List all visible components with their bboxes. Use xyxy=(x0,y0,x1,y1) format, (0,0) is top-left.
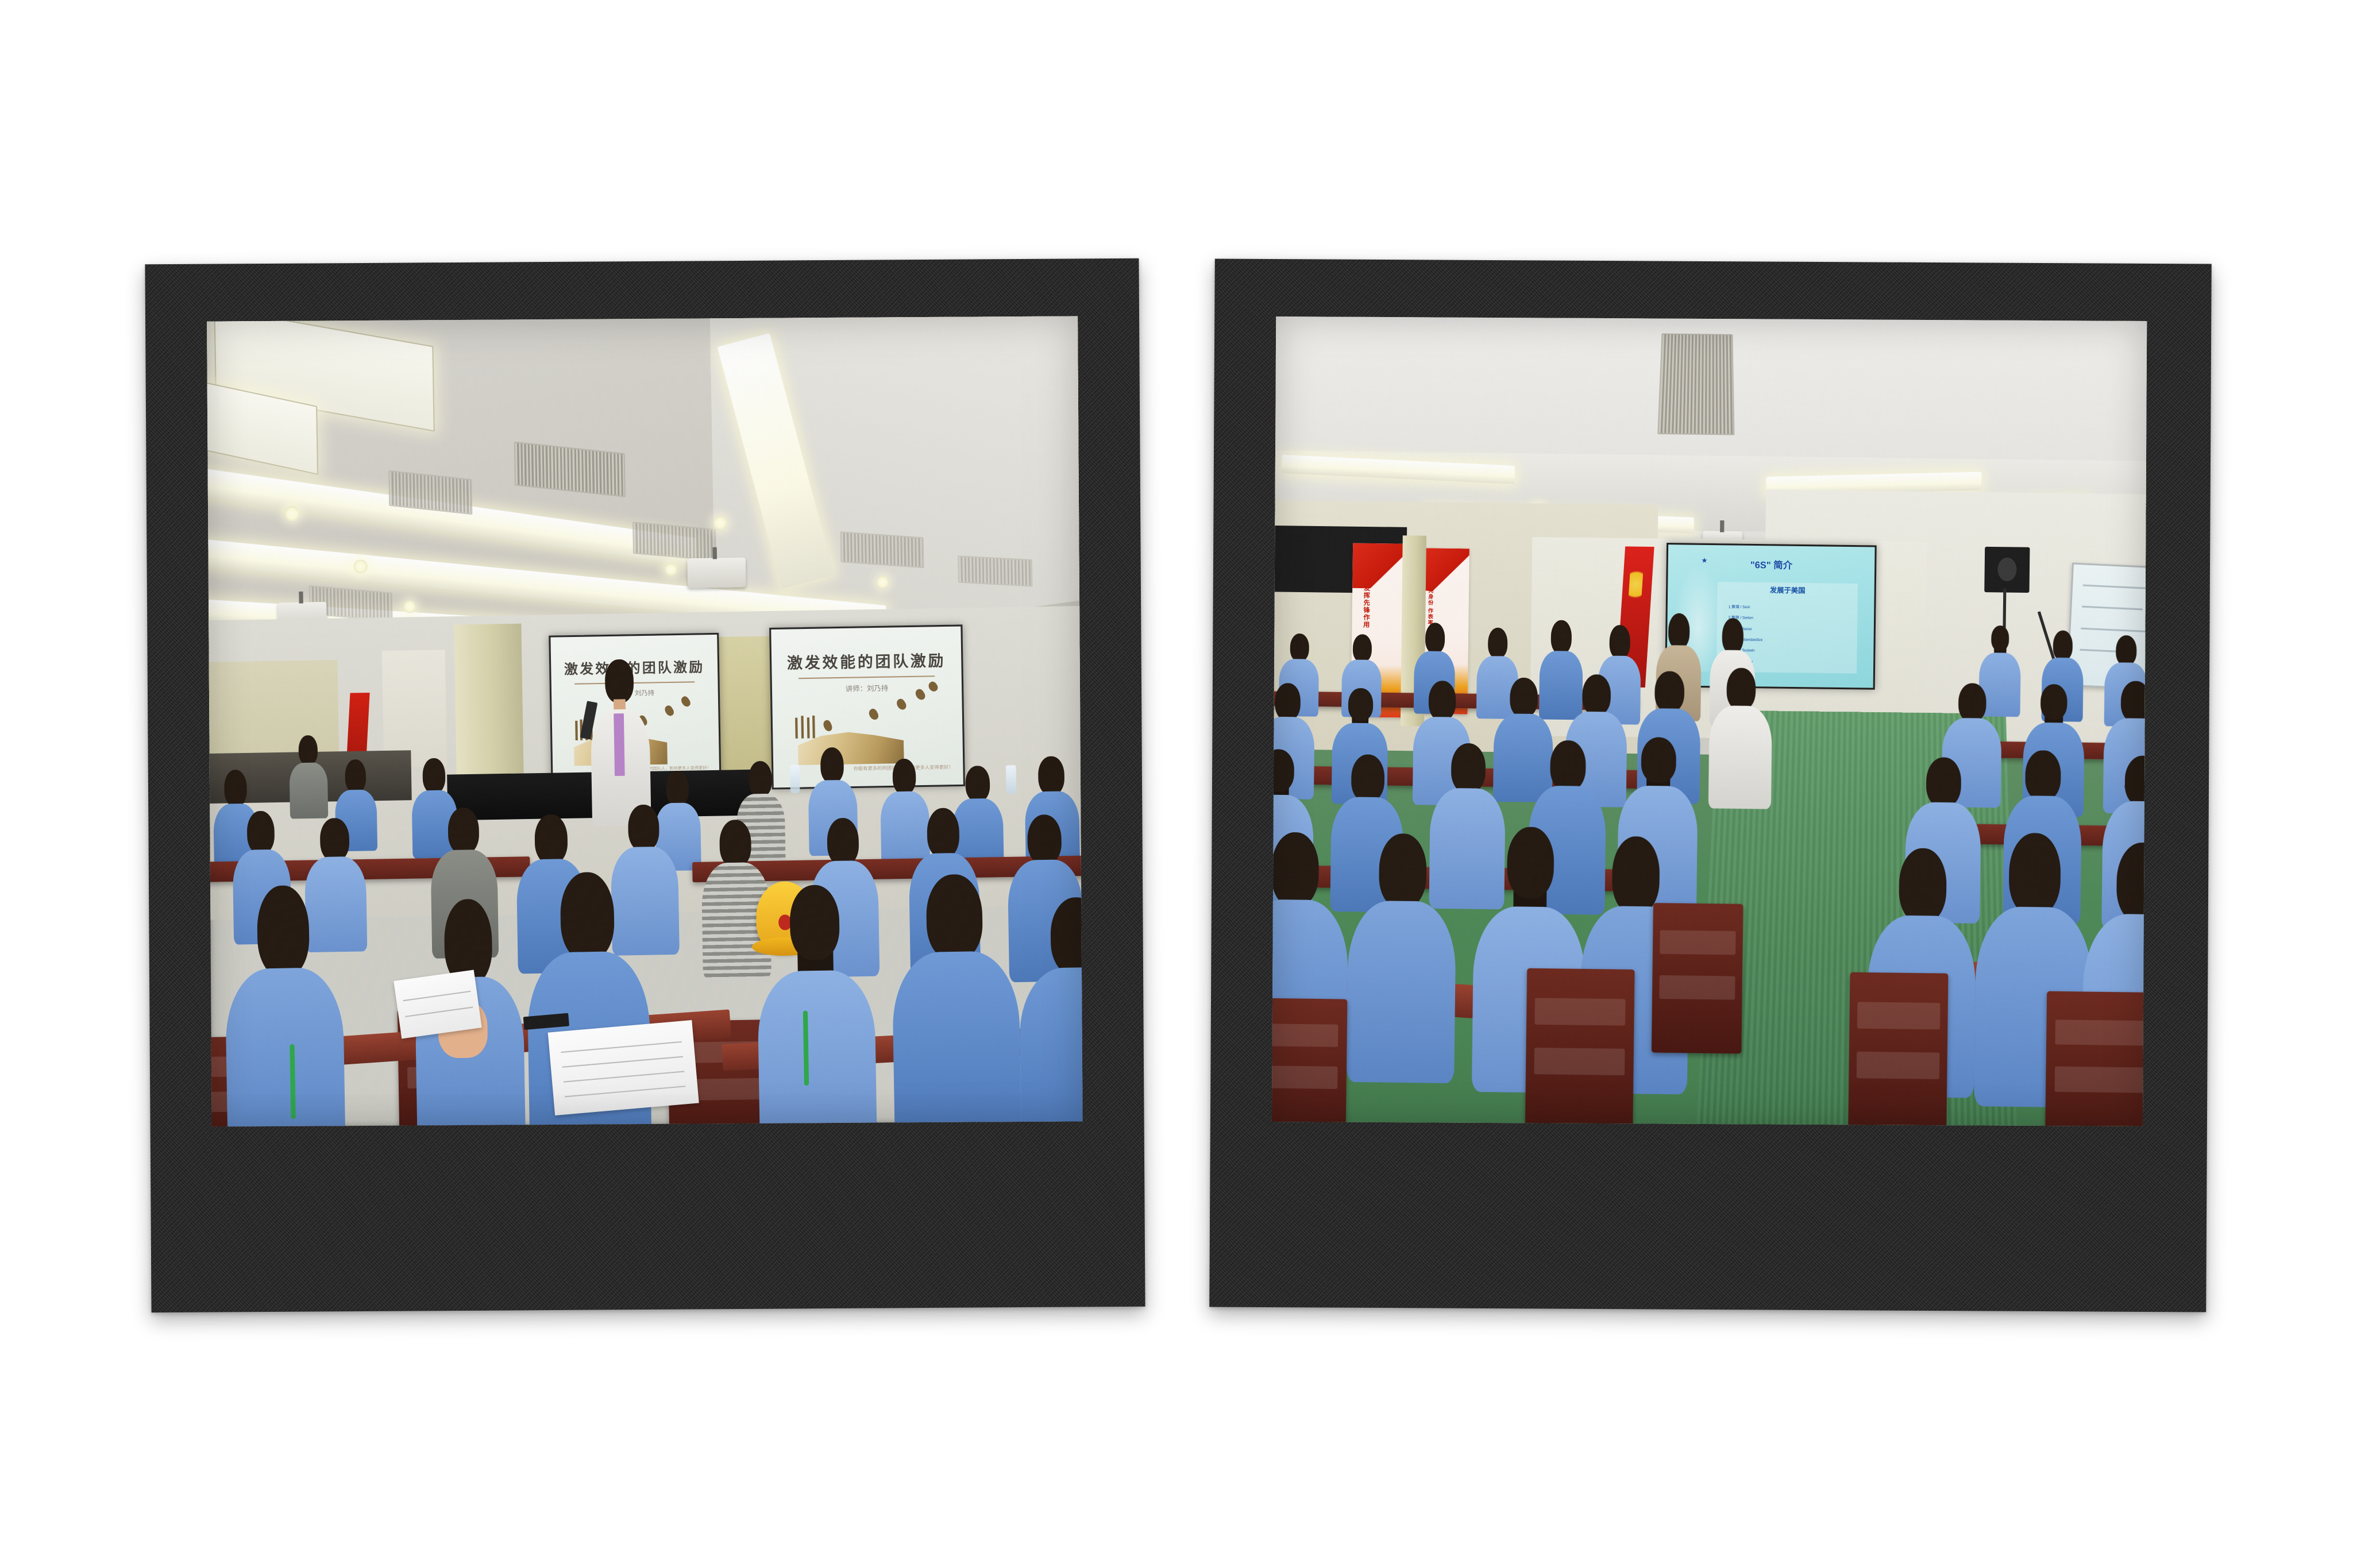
photo-left: 激发效能的团队激励 讲师：刘乃持 你能有更多的同团队人，影响更多人变得更好！ xyxy=(207,316,1083,1126)
audience-member-foreground xyxy=(1017,897,1083,1126)
recessed-downlight-icon xyxy=(404,600,416,613)
polaroid-right[interactable]: 发挥先锋作用 亮身份 作表率 走前列 ★ "6S" 简介 发展于美国 1.整理 … xyxy=(1209,258,2212,1312)
wall-panel xyxy=(382,650,447,767)
air-vent-grille-icon xyxy=(1657,333,1734,435)
audience-member-foreground xyxy=(890,874,1021,1127)
audience-member-foreground xyxy=(1346,833,1457,1083)
slide-runner-figure xyxy=(680,696,692,708)
air-vent-grille-icon xyxy=(840,531,924,568)
presenter-necktie xyxy=(614,713,625,776)
water-bottle-icon xyxy=(790,764,800,793)
slide-runner-figure xyxy=(867,707,880,721)
page-canvas: 激发效能的团队激励 讲师：刘乃持 你能有更多的同团队人，影响更多人变得更好！ xyxy=(0,0,2353,1568)
air-vent-grille-icon xyxy=(958,555,1033,587)
slide-panel-heading: 发展于美国 xyxy=(1717,584,1857,596)
banner-text: 发挥先锋作用 xyxy=(1361,585,1371,628)
chair xyxy=(1272,998,1347,1126)
chair xyxy=(2045,991,2147,1126)
ceiling-projector-icon xyxy=(687,557,746,588)
recessed-downlight-icon xyxy=(877,576,889,588)
audience-member xyxy=(289,735,328,819)
polaroid-left[interactable]: 激发效能的团队激励 讲师：刘乃持 你能有更多的同团队人，影响更多人变得更好！ xyxy=(145,258,1145,1313)
wall-speaker-icon xyxy=(1985,546,2030,592)
recessed-downlight-icon xyxy=(353,559,367,574)
slide-title: 激发效能的团队激励 xyxy=(772,648,961,674)
slide-list-item: 1.整理 / Seiri xyxy=(1729,604,1750,610)
slide-title: "6S" 简介 xyxy=(1668,555,1874,572)
chair xyxy=(1525,968,1634,1126)
chair xyxy=(1848,972,1949,1126)
slide-runner-figure xyxy=(895,697,908,711)
photo-right: 发挥先锋作用 亮身份 作表率 走前列 ★ "6S" 简介 发展于美国 1.整理 … xyxy=(1272,316,2147,1126)
handout-booklet xyxy=(548,1020,699,1115)
audience-member xyxy=(1708,667,1773,809)
handout-booklet xyxy=(394,970,482,1038)
water-bottle-icon xyxy=(1006,765,1016,794)
slide-runner-figure xyxy=(822,719,834,732)
slide-runner-figure xyxy=(663,705,675,717)
slide-divider xyxy=(799,676,935,679)
audience-member-foreground xyxy=(755,885,877,1127)
audience-member-foreground xyxy=(224,885,346,1127)
chair xyxy=(1652,903,1743,1054)
